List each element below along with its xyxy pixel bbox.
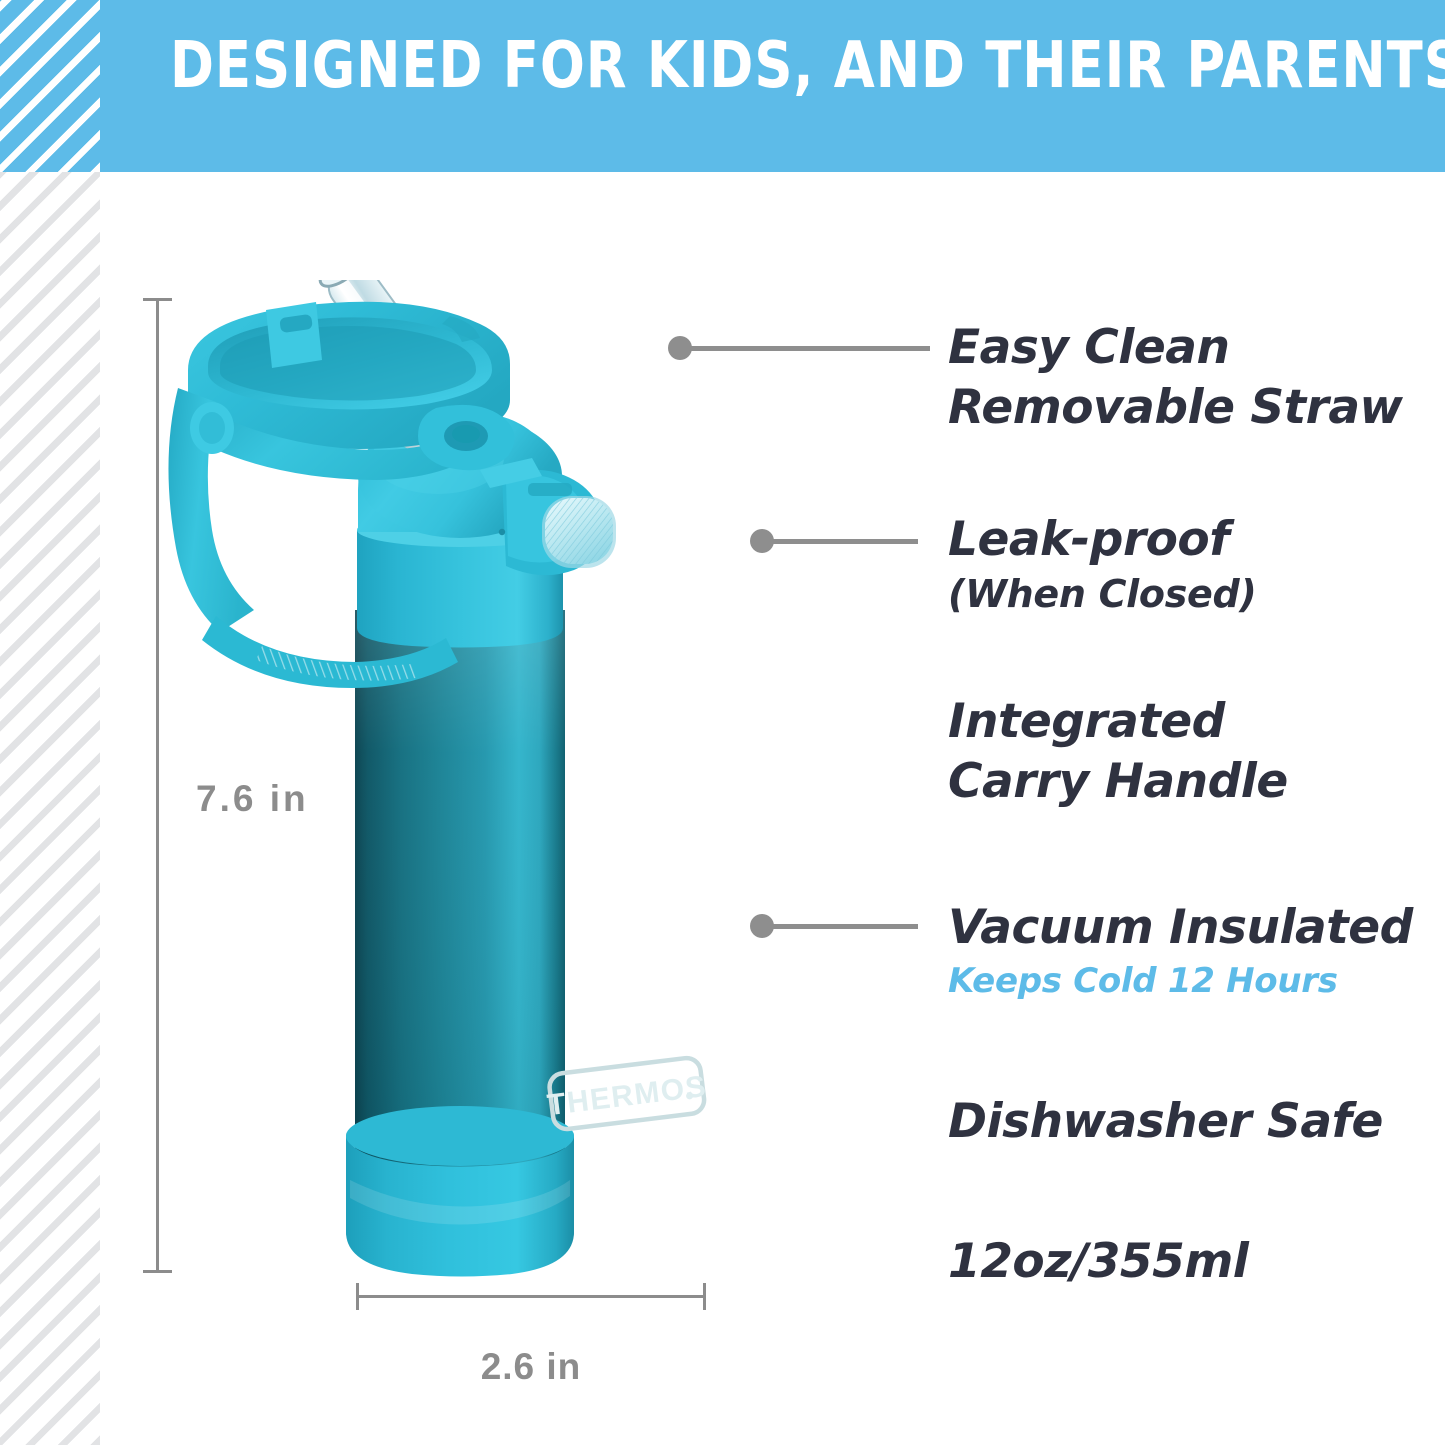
leader-line-vacuum	[768, 924, 918, 929]
height-dimension-label: 7.6 in	[196, 778, 309, 820]
bottle-body	[355, 610, 565, 1179]
callout-vacuum-line2: Keeps Cold 12 Hours	[948, 960, 1413, 1004]
cap-tab	[266, 302, 322, 368]
infographic-page: DESIGNED FOR KIDS, AND THEIR PARENTS	[0, 0, 1445, 1445]
callout-handle-line1: Integrated	[948, 692, 1288, 752]
callout-capacity-line1: 12oz/355ml	[948, 1232, 1248, 1292]
thermos-logo: THERMOS	[544, 1056, 710, 1131]
height-dimension-cap-bottom	[143, 1270, 172, 1273]
width-dimension-label: 2.6 in	[0, 1346, 1062, 1388]
width-dimension-line	[356, 1295, 706, 1298]
callout-handle-line2: Carry Handle	[948, 752, 1288, 812]
leader-dot-leakproof	[750, 529, 774, 553]
leader-dot-straw	[668, 336, 692, 360]
diagonal-stripe-band	[0, 0, 100, 1445]
leader-dot-vacuum	[750, 914, 774, 938]
callout-leakproof-line1: Leak-proof	[948, 510, 1256, 570]
leader-line-leakproof	[768, 539, 918, 544]
callout-straw-line2: Removable Straw	[948, 378, 1402, 438]
diagonal-stripe-band-header	[0, 0, 100, 172]
callout-leakproof-line2: (When Closed)	[948, 570, 1256, 619]
page-title: DESIGNED FOR KIDS, AND THEIR PARENTS	[170, 33, 1274, 100]
callout-dishwasher-line1: Dishwasher Safe	[948, 1092, 1383, 1152]
lid-push-button	[542, 496, 616, 568]
leader-line-straw	[686, 346, 930, 351]
callout-straw-line1: Easy Clean	[948, 318, 1402, 378]
height-dimension-line	[156, 298, 159, 1273]
callout-vacuum-line1: Vacuum Insulated	[948, 898, 1413, 958]
bottle-base-boot	[346, 1106, 574, 1277]
width-dimension-cap-right	[703, 1283, 706, 1310]
